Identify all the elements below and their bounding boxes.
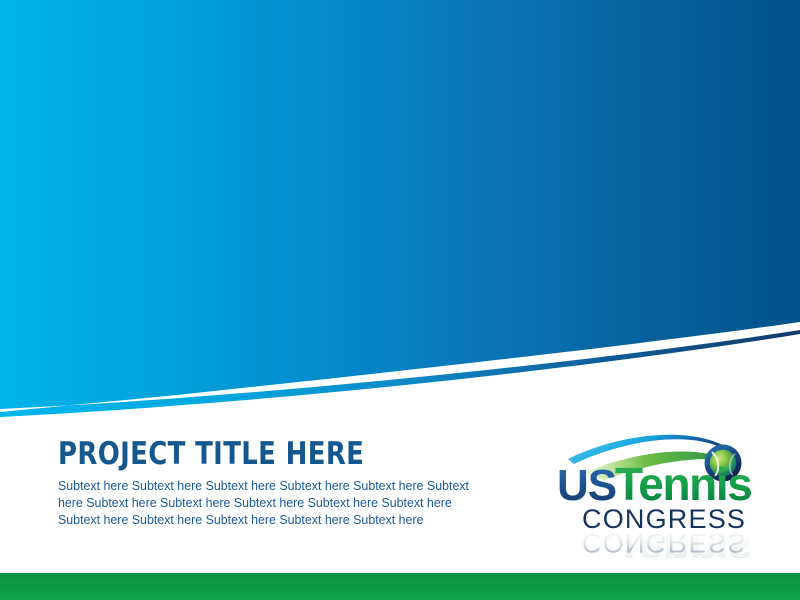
- logo-reflection-tennis-wrap: Tennis: [615, 524, 751, 558]
- subtitle-text: Subtext here Subtext here Subtext here S…: [58, 478, 484, 530]
- logo-word-tennis: Tennis: [615, 458, 751, 510]
- logo-word-us: US: [557, 461, 616, 510]
- title-block: PROJECT TITLE HERE Subtext here Subtext …: [58, 437, 528, 530]
- footer-green-bar: [0, 573, 800, 600]
- logo-reflection-tennis: Tennis: [615, 524, 751, 558]
- us-tennis-congress-logo: US Tennis CONGRESS CONGRESS Tennis: [556, 428, 774, 558]
- slide-canvas: PROJECT TITLE HERE Subtext here Subtext …: [0, 0, 800, 600]
- page-title: PROJECT TITLE HERE: [58, 437, 495, 471]
